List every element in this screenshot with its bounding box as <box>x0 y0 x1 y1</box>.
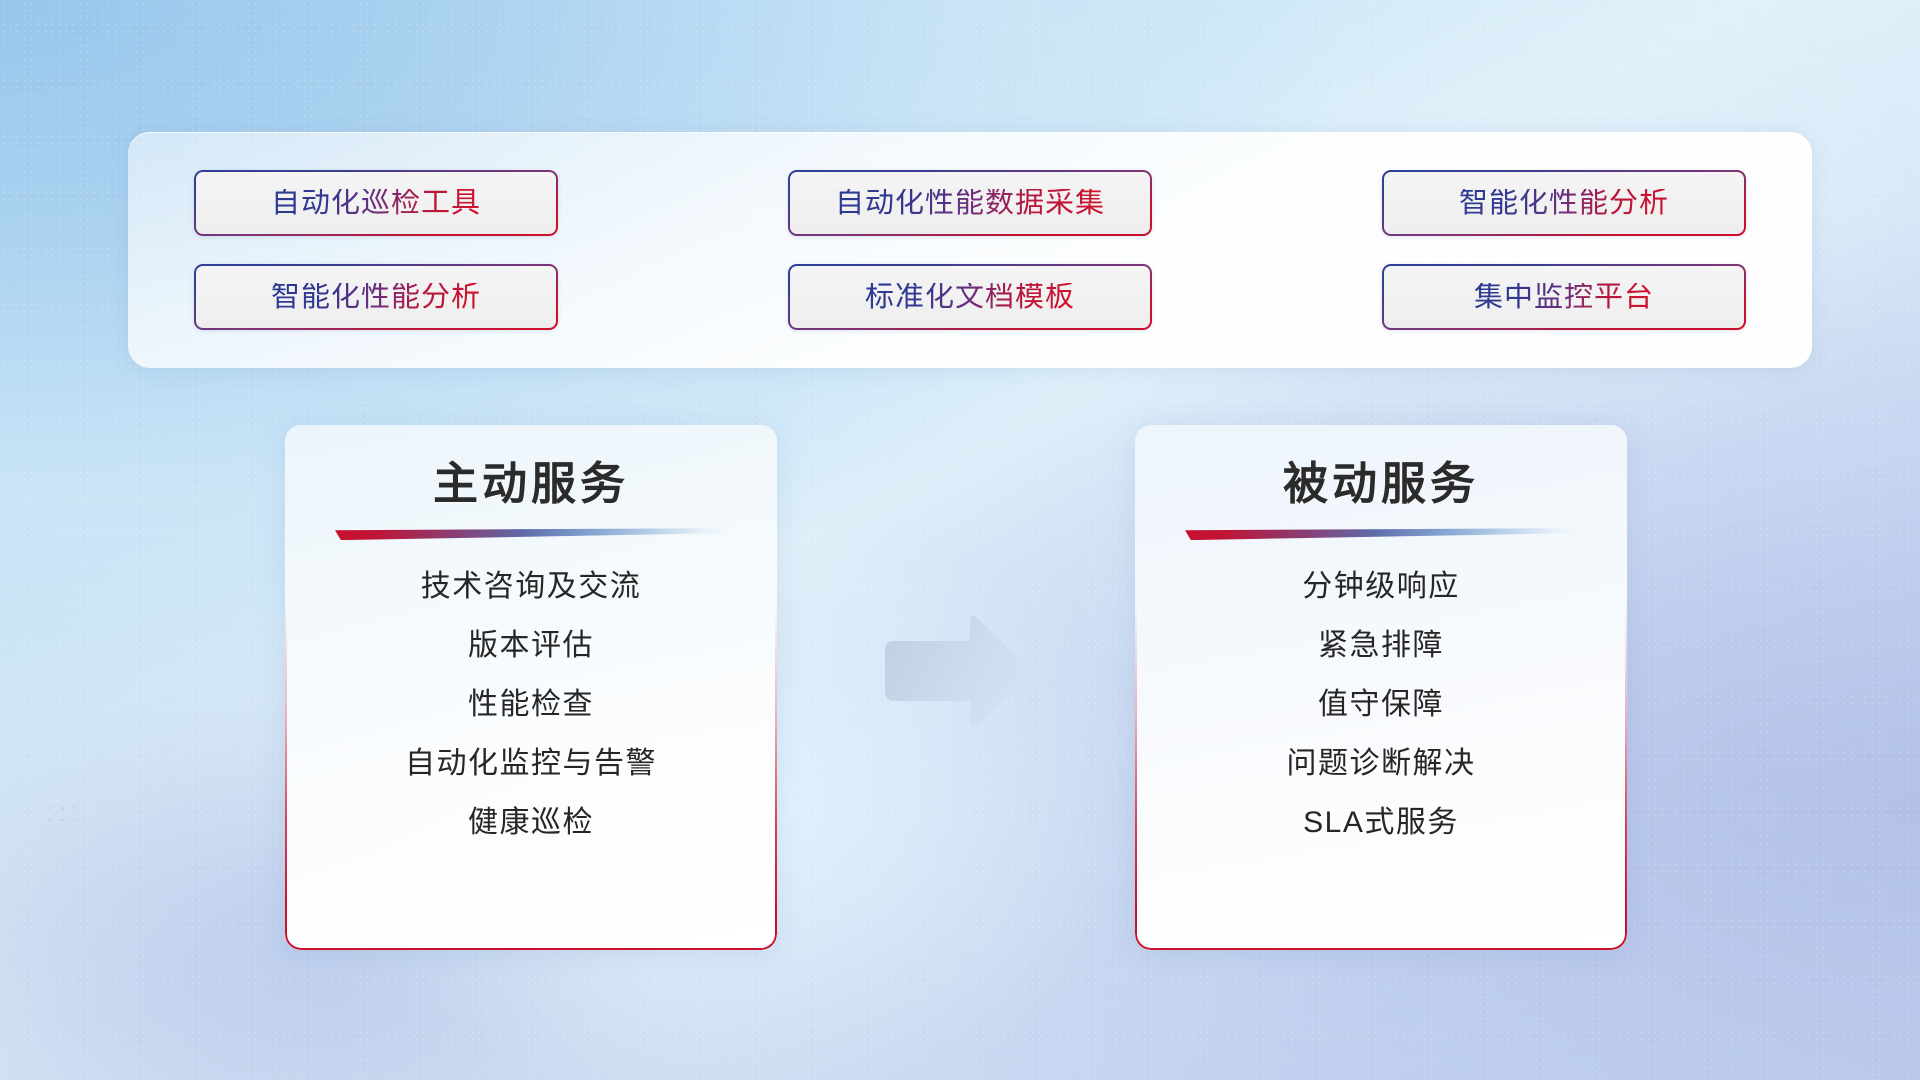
capability-pill-surface: 智能化性能分析 <box>1384 172 1744 234</box>
capability-pill-surface: 自动化性能数据采集 <box>790 172 1150 234</box>
capability-pill-surface: 自动化巡检工具 <box>196 172 556 234</box>
capability-pill-surface: 标准化文档模板 <box>790 266 1150 328</box>
capability-pill-automated-performance-data-collection[interactable]: 自动化性能数据采集 <box>788 170 1152 236</box>
service-card-divider <box>335 528 727 540</box>
service-list-item[interactable]: 技术咨询及交流 <box>421 570 642 603</box>
service-card-body: 被动服务 分钟级响应 紧急排障 值守保障 问题诊断解决 SLA式服务 <box>1135 425 1627 950</box>
arrow-right-icon <box>875 612 1035 732</box>
background-dot-pattern-warm <box>20 790 250 930</box>
capability-pill-surface: 集中监控平台 <box>1384 266 1744 328</box>
capability-row-2: 智能化性能分析 标准化文档模板 集中监控平台 <box>194 264 1746 330</box>
service-card-list: 分钟级响应 紧急排障 值守保障 问题诊断解决 SLA式服务 <box>1135 570 1627 839</box>
capability-pill-intelligent-performance-analysis[interactable]: 智能化性能分析 <box>1382 170 1746 236</box>
capability-pill-intelligent-performance-analysis-2[interactable]: 智能化性能分析 <box>194 264 558 330</box>
service-list-item[interactable]: 版本评估 <box>468 629 594 662</box>
service-list-item[interactable]: 问题诊断解决 <box>1287 747 1476 780</box>
service-card-title: 被动服务 <box>1283 457 1479 510</box>
capability-pill-label: 自动化巡检工具 <box>271 189 481 218</box>
capability-row-1: 自动化巡检工具 自动化性能数据采集 智能化性能分析 <box>194 170 1746 236</box>
service-list-item[interactable]: 性能检查 <box>468 688 594 721</box>
service-list-item[interactable]: 紧急排障 <box>1318 629 1444 662</box>
service-list-item[interactable]: 值守保障 <box>1318 688 1444 721</box>
capability-pill-automated-inspection-tool[interactable]: 自动化巡检工具 <box>194 170 558 236</box>
capability-pill-surface: 智能化性能分析 <box>196 266 556 328</box>
capability-pill-label: 自动化性能数据采集 <box>835 189 1105 218</box>
service-card-passive[interactable]: 被动服务 分钟级响应 紧急排障 值守保障 问题诊断解决 SLA式服务 <box>1135 425 1627 950</box>
service-card-list: 技术咨询及交流 版本评估 性能检查 自动化监控与告警 健康巡检 <box>285 570 777 839</box>
service-card-divider <box>1185 528 1577 540</box>
capability-pill-centralized-monitoring-platform[interactable]: 集中监控平台 <box>1382 264 1746 330</box>
capability-pill-label: 智能化性能分析 <box>1459 189 1669 218</box>
capability-pill-label: 标准化文档模板 <box>865 283 1075 312</box>
service-list-item[interactable]: 自动化监控与告警 <box>405 747 657 780</box>
service-card-active[interactable]: 主动服务 技术咨询及交流 版本评估 性能检查 自动化监控与告警 健康巡检 <box>285 425 777 950</box>
service-list-item[interactable]: 分钟级响应 <box>1302 570 1460 603</box>
service-card-body: 主动服务 技术咨询及交流 版本评估 性能检查 自动化监控与告警 健康巡检 <box>285 425 777 950</box>
service-list-item[interactable]: SLA式服务 <box>1303 806 1459 839</box>
capability-panel: 自动化巡检工具 自动化性能数据采集 智能化性能分析 智能化性能分析 标准化文档模… <box>128 132 1812 368</box>
capability-pill-label: 智能化性能分析 <box>271 283 481 312</box>
service-card-title: 主动服务 <box>433 457 629 510</box>
capability-pill-label: 集中监控平台 <box>1474 283 1654 312</box>
capability-pill-standardized-document-template[interactable]: 标准化文档模板 <box>788 264 1152 330</box>
service-list-item[interactable]: 健康巡检 <box>468 806 594 839</box>
